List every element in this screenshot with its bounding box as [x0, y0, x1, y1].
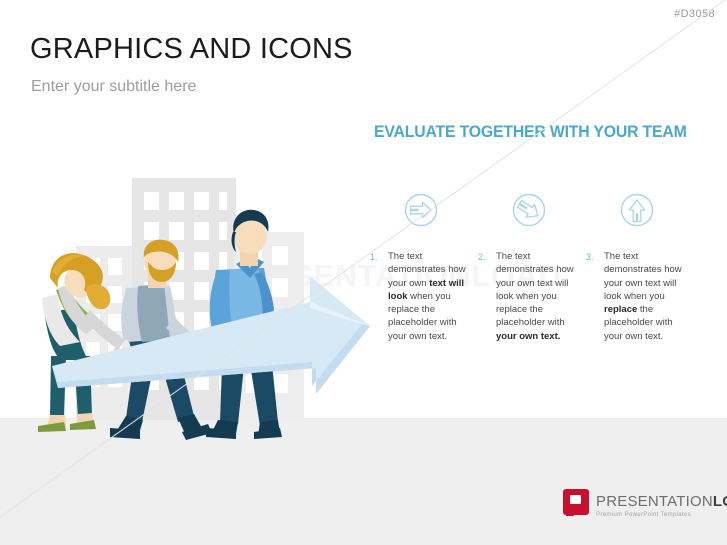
logo-wordmark: PRESENTATIONLOAD®	[596, 491, 727, 510]
column-body-2: The text demonstrates how your own text …	[496, 250, 586, 343]
column-number-3: 3.	[586, 250, 604, 343]
slide-canvas: #D3058 GRAPHICS AND ICONS Enter your sub…	[0, 0, 727, 545]
icon-cell-3[interactable]	[590, 192, 698, 228]
logo-tagline: Premium PowerPoint Templates	[596, 511, 727, 518]
column-body-2-bold: your own text.	[496, 331, 560, 342]
column-body-2-before: The text demonstrates how your own text …	[496, 251, 574, 328]
icon-cell-2[interactable]	[482, 192, 590, 228]
column-body-1: The text demonstrates how your own text …	[388, 250, 478, 343]
presentationload-logo[interactable]: PRESENTATIONLOAD® Premium PowerPoint Tem…	[563, 489, 727, 518]
speech-bubble-logo-icon	[563, 489, 589, 515]
text-column-2: 2. The text demonstrates how your own te…	[478, 250, 586, 343]
icon-cell-1[interactable]	[374, 192, 482, 228]
text-columns: 1. The text demonstrates how your own te…	[370, 250, 720, 343]
column-number-1: 1.	[370, 250, 388, 343]
text-column-1: 1. The text demonstrates how your own te…	[370, 250, 478, 343]
logo-name-light: PRESENTATION	[596, 493, 713, 510]
column-body-3: The text demonstrates how your own text …	[604, 250, 694, 343]
column-number-2: 2.	[478, 250, 496, 343]
content-heading: EVALUATE TOGETHER WITH YOUR TEAM	[374, 122, 687, 142]
page-subtitle: Enter your subtitle here	[31, 78, 196, 96]
icon-row	[374, 192, 714, 228]
column-body-3-before: The text demonstrates how your own text …	[604, 251, 682, 302]
circle-arrow-diagonal-icon	[511, 192, 547, 228]
circle-arrow-up-icon	[619, 192, 655, 228]
logo-name-bold: LOAD	[713, 493, 727, 510]
slide-reference-code: #D3058	[674, 8, 715, 20]
circle-arrow-right-icon	[403, 192, 439, 228]
three-people-carrying-arrow-illustration	[14, 160, 374, 450]
column-body-3-bold: replace	[604, 304, 637, 315]
logo-text-wrap: PRESENTATIONLOAD® Premium PowerPoint Tem…	[596, 489, 727, 518]
page-title: GRAPHICS AND ICONS	[30, 33, 353, 66]
text-column-3: 3. The text demonstrates how your own te…	[586, 250, 694, 343]
